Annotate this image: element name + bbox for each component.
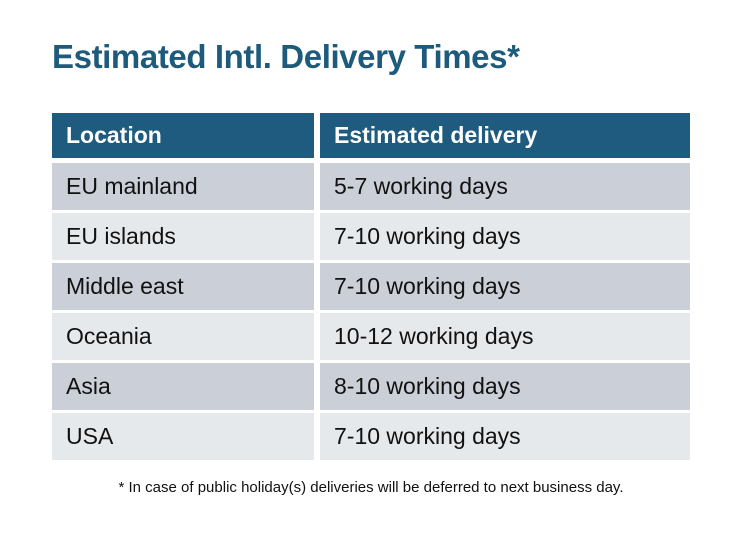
column-header-location: Location bbox=[52, 113, 314, 158]
table-row: Oceania 10-12 working days bbox=[52, 313, 690, 360]
footnote: * In case of public holiday(s) deliverie… bbox=[52, 479, 690, 496]
cell-delivery: 7-10 working days bbox=[320, 263, 690, 310]
cell-location: EU islands bbox=[52, 213, 314, 260]
table-row: Asia 8-10 working days bbox=[52, 363, 690, 410]
page-title: Estimated Intl. Delivery Times* bbox=[52, 38, 520, 76]
cell-delivery: 7-10 working days bbox=[320, 213, 690, 260]
table-row: EU islands 7-10 working days bbox=[52, 213, 690, 260]
cell-location: EU mainland bbox=[52, 163, 314, 210]
cell-location: USA bbox=[52, 413, 314, 460]
delivery-times-table: Location Estimated delivery EU mainland … bbox=[52, 113, 690, 463]
table-header-row: Location Estimated delivery bbox=[52, 113, 690, 158]
cell-delivery: 7-10 working days bbox=[320, 413, 690, 460]
column-header-estimated-delivery: Estimated delivery bbox=[320, 113, 690, 158]
cell-delivery: 10-12 working days bbox=[320, 313, 690, 360]
cell-location: Oceania bbox=[52, 313, 314, 360]
table-row: Middle east 7-10 working days bbox=[52, 263, 690, 310]
cell-location: Middle east bbox=[52, 263, 314, 310]
delivery-times-page: Estimated Intl. Delivery Times* Location… bbox=[0, 0, 745, 536]
cell-location: Asia bbox=[52, 363, 314, 410]
cell-delivery: 8-10 working days bbox=[320, 363, 690, 410]
cell-delivery: 5-7 working days bbox=[320, 163, 690, 210]
table-row: USA 7-10 working days bbox=[52, 413, 690, 460]
table-row: EU mainland 5-7 working days bbox=[52, 163, 690, 210]
